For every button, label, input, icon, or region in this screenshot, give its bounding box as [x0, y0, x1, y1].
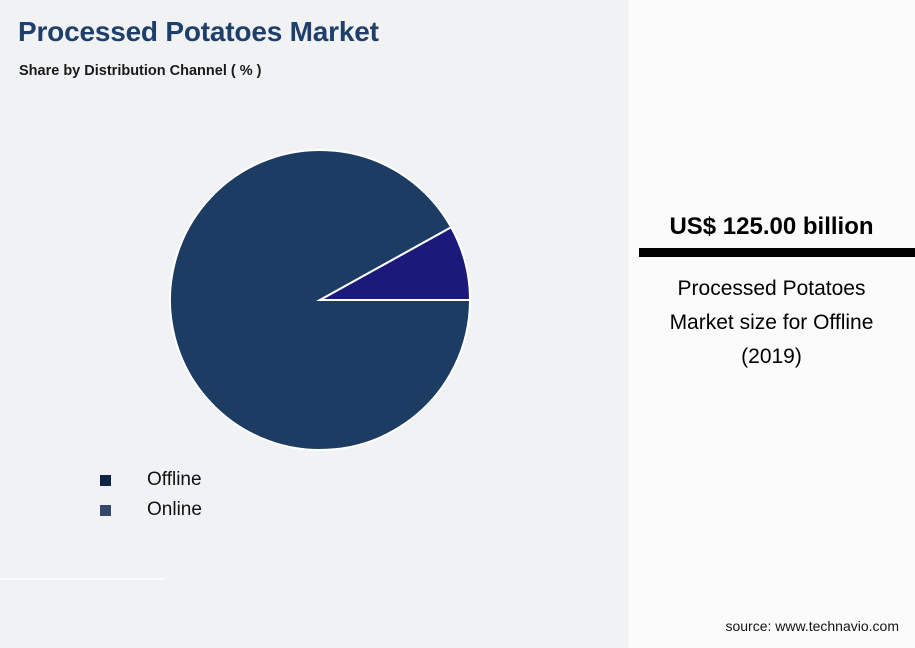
page-title: Processed Potatoes Market [18, 16, 379, 48]
legend-item-online[interactable]: Online [100, 495, 202, 525]
chart-legend: Offline Online [100, 465, 202, 525]
chart-canvas: Processed Potatoes Market Share by Distr… [0, 0, 915, 648]
source-label: source: www.technavio.com [628, 618, 899, 634]
legend-label-offline: Offline [147, 469, 202, 491]
legend-swatch-offline [100, 475, 111, 486]
pie-chart-panel: Processed Potatoes Market Share by Distr… [0, 0, 627, 648]
pie-chart [170, 150, 470, 450]
callout-panel: US$ 125.00 billion Processed Potatoes Ma… [627, 0, 915, 648]
callout-value: US$ 125.00 billion [628, 213, 915, 241]
legend-item-offline[interactable]: Offline [100, 465, 202, 495]
footer-divider [0, 578, 165, 580]
legend-swatch-online [100, 505, 111, 516]
callout-description: Processed Potatoes Market size for Offli… [646, 272, 897, 374]
legend-label-online: Online [147, 499, 202, 521]
chart-subtitle: Share by Distribution Channel ( % ) [19, 63, 262, 79]
callout-divider [639, 248, 915, 257]
pie-chart-svg [170, 150, 470, 450]
